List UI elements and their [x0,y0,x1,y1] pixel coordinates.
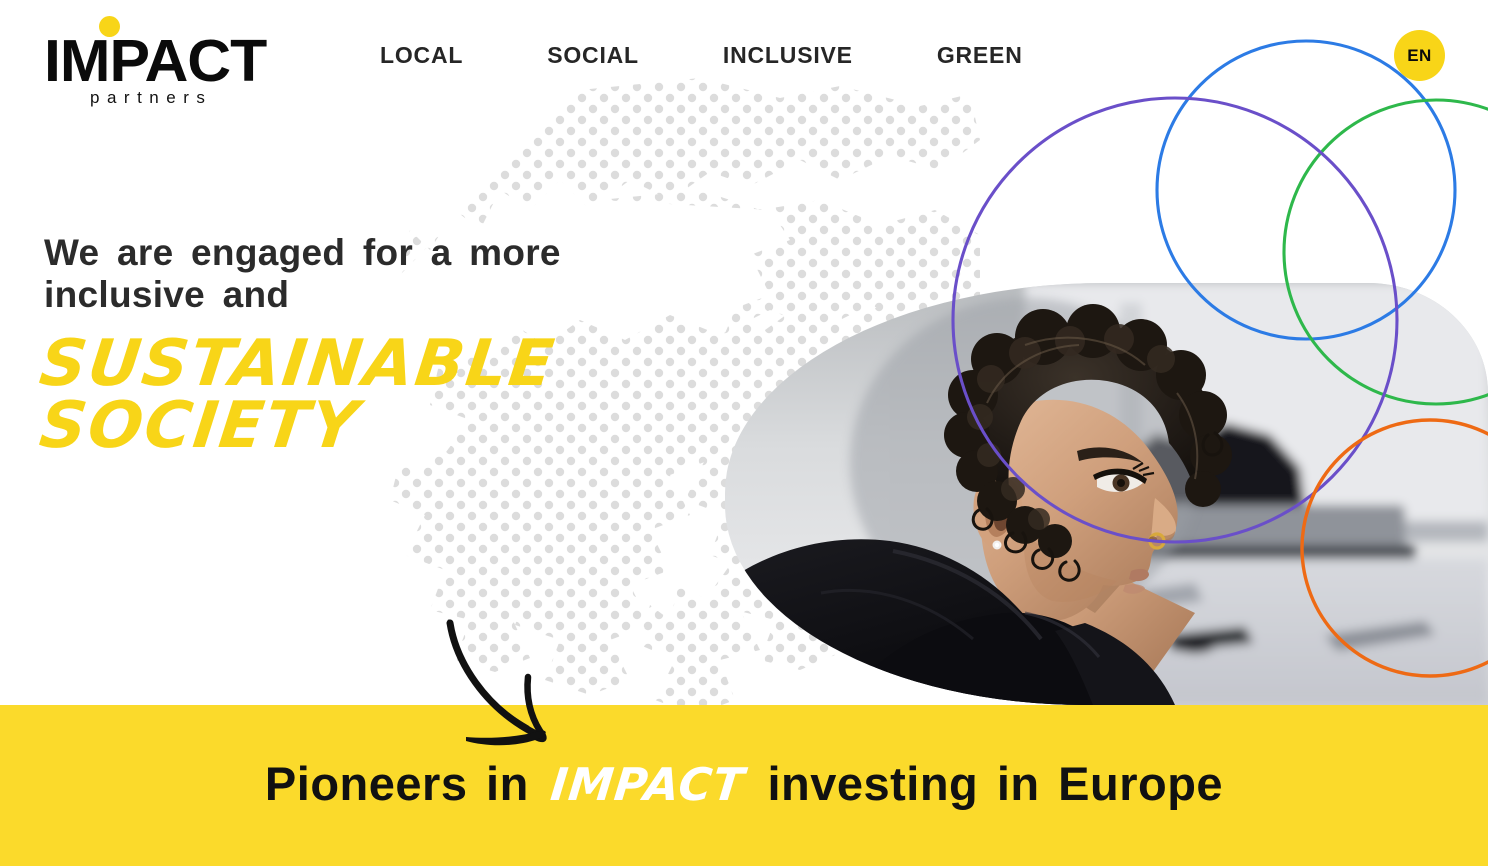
logo[interactable]: IMPACT partners [44,14,289,104]
nav-item-local[interactable]: LOCAL [380,42,503,69]
banner-highlight-impact: IMPACT [545,758,752,811]
logo-subtitle: partners [90,88,212,108]
hero-photo [725,283,1488,705]
banner-prefix: Pioneers in [265,757,529,810]
nav-item-green[interactable]: GREEN [937,42,1023,69]
site-header: IMPACT partners LOCAL SOCIAL INCLUSIVE G… [0,0,1500,120]
banner-tagline: Pioneers in IMPACT investing in Europe [265,756,1223,811]
hero-photo-image [725,283,1488,705]
hero-script-line2: SOCIETY [36,396,664,457]
logo-yellow-dot-icon [99,16,120,37]
language-selector-label: EN [1407,46,1432,66]
hero-text-block: We are engaged for a more inclusive and … [44,232,664,457]
hero-headline-line2: inclusive and [44,274,604,316]
language-selector[interactable]: EN [1394,30,1445,81]
right-white-margin [1488,0,1500,866]
main-navigation: LOCAL SOCIAL INCLUSIVE GREEN [380,42,1023,69]
bottom-banner-text: Pioneers in IMPACT investing in Europe [0,705,1488,866]
hero-script-line1: SUSTAINABLE [36,334,664,395]
banner-suffix: investing in Europe [767,757,1223,810]
nav-item-inclusive[interactable]: INCLUSIVE [723,42,893,69]
logo-wordmark: IMPACT [44,32,266,91]
logo-mark: IMPACT partners [44,14,289,104]
page-root: Pioneers in IMPACT investing in Europe W… [0,0,1500,866]
hero-headline-line1: We are engaged for a more [44,232,604,274]
nav-item-social[interactable]: SOCIAL [547,42,679,69]
